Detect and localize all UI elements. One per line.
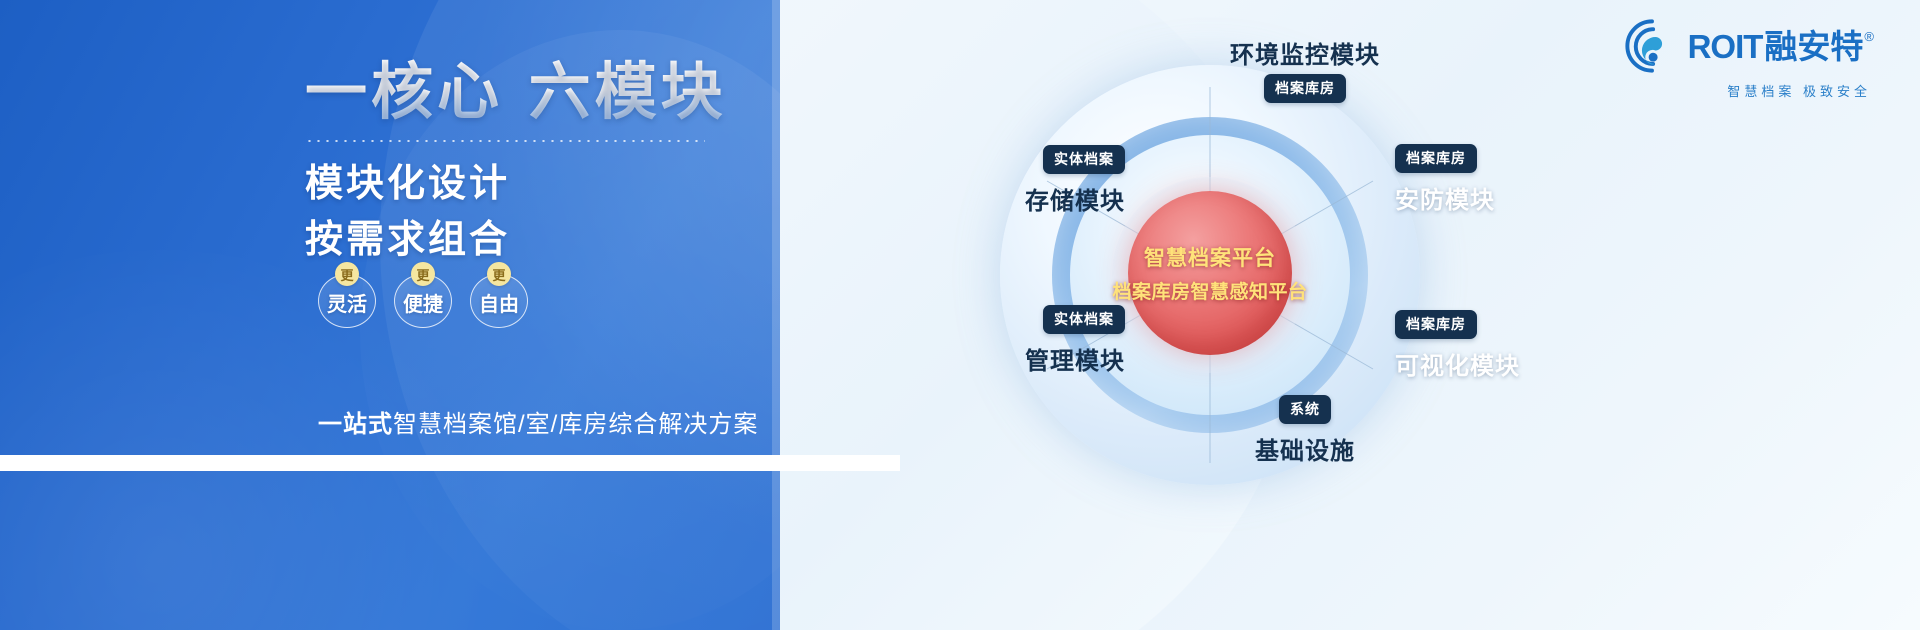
brand-logo[interactable]: ROIT 融安特 ® 智慧档案 极致安全: [1624, 18, 1874, 100]
logo-tagline: 智慧档案 极致安全: [1727, 81, 1871, 100]
module-name: 管理模块: [935, 341, 1125, 376]
dotted-divider: [305, 140, 705, 142]
logo-wordmark: ROIT 融安特 ®: [1688, 30, 1874, 63]
hero-text-block: 一核心 六模块 模块化设计 按需求组合: [305, 58, 725, 268]
hero-subtitle-line-1: 模块化设计: [305, 158, 725, 212]
badge-prefix: 更: [411, 262, 435, 286]
module-name: 可视化模块: [1395, 346, 1645, 381]
core-title-line-1: 智慧档案平台: [1144, 242, 1276, 272]
module-label-security[interactable]: 档案库房 安防模块: [1395, 144, 1645, 215]
feature-badge-group: 更 灵活 更 便捷 更 自由: [318, 262, 528, 328]
module-tag: 档案库房: [1395, 144, 1477, 173]
badge-label: 便捷: [394, 288, 452, 317]
wave-logo-icon: [1624, 18, 1680, 74]
module-label-environment[interactable]: 环境监控模块 档案库房: [1160, 28, 1450, 103]
module-label-management[interactable]: 实体档案 管理模块: [935, 305, 1125, 376]
badge-label: 自由: [470, 288, 528, 317]
module-name: 环境监控模块: [1160, 35, 1450, 70]
logo-row: ROIT 融安特 ®: [1624, 18, 1874, 74]
feature-badge-free: 更 自由: [470, 262, 528, 328]
promo-banner: 一核心 六模块 模块化设计 按需求组合 更 灵活 更 便捷 更 自由 一站式智慧…: [0, 0, 1920, 630]
badge-prefix: 更: [487, 262, 511, 286]
module-name: 基础设施: [1160, 431, 1450, 466]
footer-tagline-rest: 智慧档案馆/室/库房综合解决方案: [393, 411, 758, 438]
module-tag: 实体档案: [1043, 145, 1125, 174]
registered-mark-icon: ®: [1864, 30, 1874, 43]
core-title-line-2: 档案库房智慧感知平台: [1113, 277, 1308, 304]
logo-name-en: ROIT: [1688, 30, 1763, 63]
module-tag: 档案库房: [1264, 74, 1346, 103]
footer-tagline-strong: 一站式: [318, 411, 393, 438]
module-tag: 档案库房: [1395, 310, 1477, 339]
module-name: 存储模块: [935, 181, 1125, 216]
module-tag: 实体档案: [1043, 305, 1125, 334]
module-label-infrastructure[interactable]: 系统 基础设施: [1160, 395, 1450, 466]
badge-prefix: 更: [335, 262, 359, 286]
footer-tagline: 一站式智慧档案馆/室/库房综合解决方案: [318, 404, 758, 439]
logo-name-cn: 融安特: [1764, 30, 1863, 63]
module-tag: 系统: [1279, 395, 1331, 424]
white-separator-band: [0, 455, 900, 471]
hero-subtitle-line-2: 按需求组合: [305, 214, 725, 268]
diagram-core: 智慧档案平台 档案库房智慧感知平台: [1128, 191, 1292, 355]
module-name: 安防模块: [1395, 180, 1645, 215]
module-label-visualization[interactable]: 档案库房 可视化模块: [1395, 310, 1645, 381]
feature-badge-flexible: 更 灵活: [318, 262, 376, 328]
module-label-storage[interactable]: 实体档案 存储模块: [935, 145, 1125, 216]
badge-label: 灵活: [318, 288, 376, 317]
feature-badge-convenient: 更 便捷: [394, 262, 452, 328]
page-title: 一核心 六模块: [305, 58, 725, 126]
